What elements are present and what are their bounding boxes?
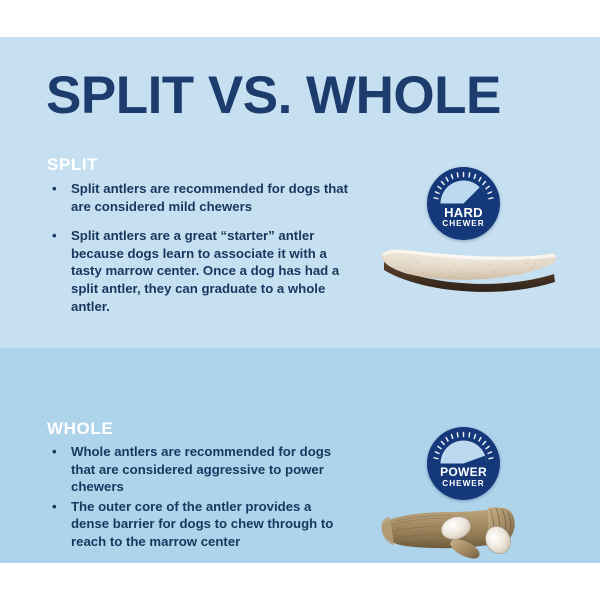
bullet-icon: • (52, 227, 57, 245)
list-item: • The outer core of the antler provides … (50, 498, 350, 551)
badge-main-label: POWER (427, 465, 500, 479)
list-item: • Split antlers are a great “starter” an… (50, 227, 350, 315)
list-item-text: Split antlers are recommended for dogs t… (71, 180, 350, 215)
badge-sub-label: CHEWER (427, 479, 500, 488)
gauge-meter-icon (427, 167, 500, 240)
section-heading-split: SPLIT (47, 155, 98, 175)
page-title: SPLIT VS. WHOLE (46, 68, 501, 124)
badge-main-label: HARD (427, 205, 500, 220)
badge-power-chewer: POWER CHEWER (427, 427, 500, 500)
list-item: • Split antlers are recommended for dogs… (50, 180, 350, 215)
list-item-text: Split antlers are a great “starter” antl… (71, 227, 350, 315)
list-item-text: Whole antlers are recommended for dogs t… (71, 443, 350, 496)
section-heading-whole: WHOLE (47, 419, 113, 439)
split-antler-photo (378, 244, 558, 300)
badge-hard-chewer: HARD CHEWER (427, 167, 500, 240)
bullet-icon: • (52, 498, 57, 516)
list-item: • Whole antlers are recommended for dogs… (50, 443, 350, 496)
infographic-canvas: SPLIT VS. WHOLE SPLIT • Split antlers ar… (0, 0, 600, 600)
bullet-icon: • (52, 180, 57, 198)
split-bullet-list: • Split antlers are recommended for dogs… (50, 180, 350, 315)
badge-sub-label: CHEWER (427, 219, 500, 228)
whole-bullet-list: • Whole antlers are recommended for dogs… (50, 443, 350, 551)
bullet-icon: • (52, 443, 57, 461)
gauge-meter-icon (427, 427, 500, 500)
whole-antler-photo (376, 496, 548, 564)
list-item-text: The outer core of the antler provides a … (71, 498, 350, 551)
